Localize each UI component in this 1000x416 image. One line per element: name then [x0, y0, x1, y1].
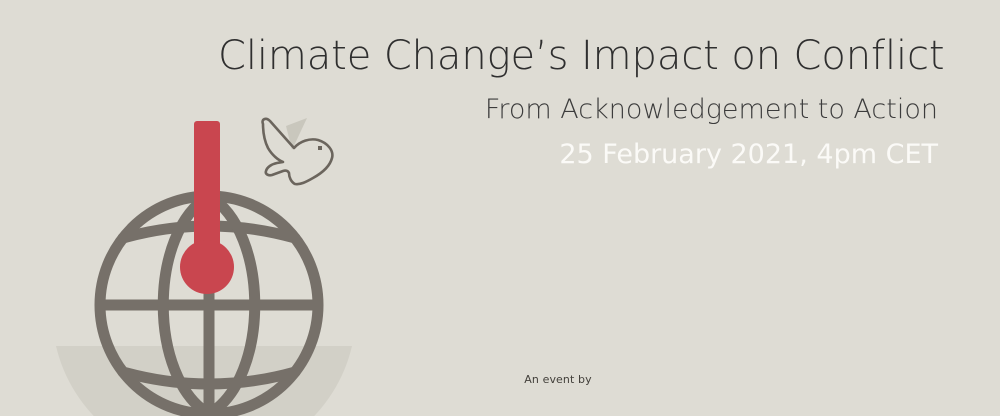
footer-inner: An event by: [524, 373, 591, 386]
event-subtitle: From Acknowledgement to Action: [218, 90, 938, 130]
page-title: Climate Change’s Impact on Conflict: [218, 30, 938, 82]
event-date: 25 February 2021, 4pm CET: [218, 136, 938, 174]
event-text-block: Climate Change’s Impact on Conflict From…: [218, 30, 938, 174]
event-by-label: An event by: [524, 373, 591, 386]
event-banner: Climate Change’s Impact on Conflict From…: [0, 0, 1000, 416]
